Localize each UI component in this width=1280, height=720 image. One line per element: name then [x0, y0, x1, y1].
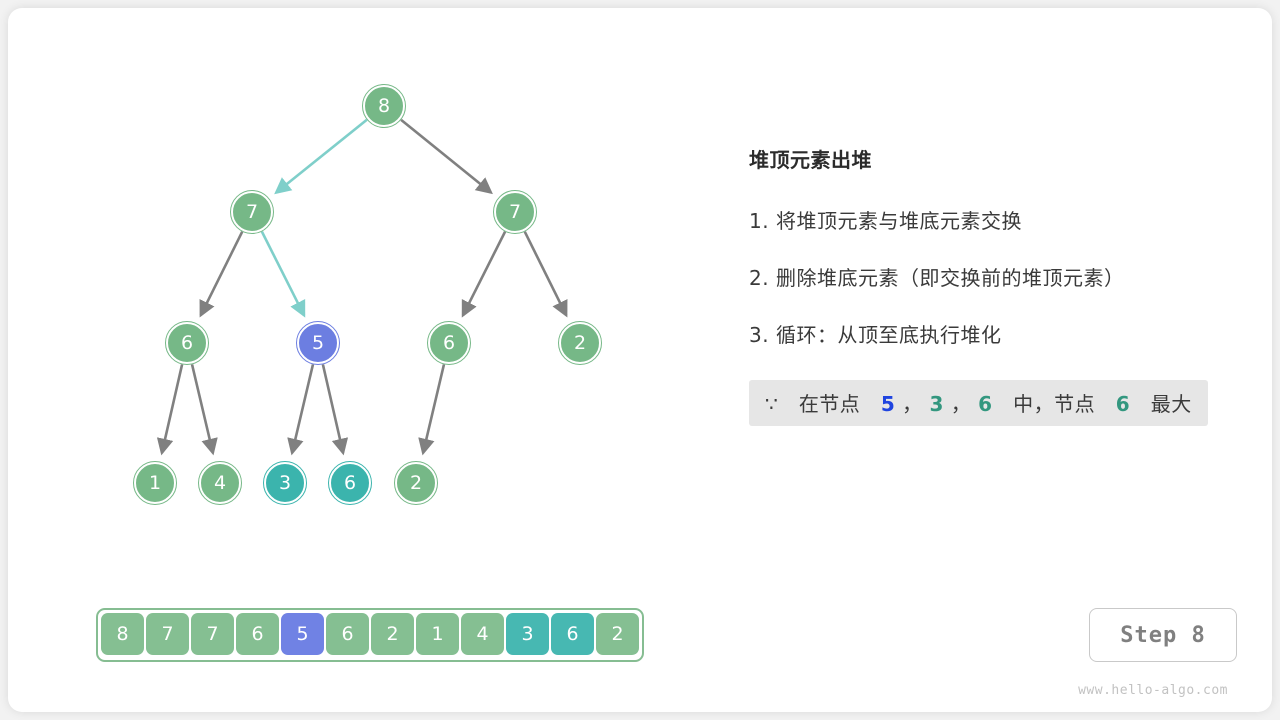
step-line-2: 2. 删除堆底元素（即交换前的堆顶元素）: [749, 262, 1229, 291]
conclusion-box: ∵ 在节点 5 ， 3 ， 6 中，节点 6 最大: [749, 380, 1208, 426]
tree-node-n2: 7: [494, 191, 536, 233]
tree-node-n0: 8: [363, 85, 405, 127]
array-cell-11: 2: [596, 613, 639, 655]
array-cell-label: 2: [611, 625, 623, 644]
conclusion-node-c: 6: [978, 392, 992, 416]
array-cell-8: 4: [461, 613, 504, 655]
array-cell-label: 6: [341, 625, 353, 644]
tree-node-label: 7: [509, 203, 521, 222]
tree-edge-n4-n9: [292, 364, 313, 452]
tree-edge-n2-n6: [525, 232, 566, 316]
tree-node-label: 4: [214, 474, 226, 493]
tree-node-label: 5: [312, 334, 324, 353]
array-cell-6: 2: [371, 613, 414, 655]
array-cell-3: 6: [236, 613, 279, 655]
array-cell-label: 7: [161, 625, 173, 644]
heap-array: 877656214362: [96, 608, 644, 662]
tree-node-n11: 2: [395, 462, 437, 504]
explanation-panel: 堆顶元素出堆 1. 将堆顶元素与堆底元素交换 2. 删除堆底元素（即交换前的堆顶…: [749, 144, 1229, 426]
conclusion-node-b: 3: [930, 392, 944, 416]
conclusion-middle: 中，节点: [1013, 392, 1095, 416]
array-cell-label: 2: [386, 625, 398, 644]
tree-node-label: 3: [279, 474, 291, 493]
page-root: 877656214362 877656214362 堆顶元素出堆 1. 将堆顶元…: [0, 0, 1280, 720]
tree-node-n7: 1: [134, 462, 176, 504]
array-cell-1: 7: [146, 613, 189, 655]
tree-edge-n0-n2: [401, 120, 491, 193]
array-cell-4: 5: [281, 613, 324, 655]
array-cell-5: 6: [326, 613, 369, 655]
tree-node-n8: 4: [199, 462, 241, 504]
tree-node-label: 7: [246, 203, 258, 222]
tree-node-n4: 5: [297, 322, 339, 364]
step-line-3: 3. 循环：从顶至底执行堆化: [749, 319, 1229, 348]
tree-edge-n3-n8: [192, 364, 213, 452]
tree-node-label: 2: [410, 474, 422, 493]
tree-node-label: 6: [344, 474, 356, 493]
tree-edge-n3-n7: [162, 364, 182, 452]
tree-node-n9: 3: [264, 462, 306, 504]
array-cell-label: 6: [251, 625, 263, 644]
content-card: 877656214362 877656214362 堆顶元素出堆 1. 将堆顶元…: [8, 8, 1272, 712]
array-cell-label: 3: [521, 625, 533, 644]
tree-node-label: 1: [149, 474, 161, 493]
tree-edge-n2-n5: [463, 232, 505, 316]
array-cell-label: 1: [431, 625, 443, 644]
conclusion-node-max: 6: [1116, 392, 1130, 416]
array-cell-label: 7: [206, 625, 218, 644]
tree-node-label: 6: [443, 334, 455, 353]
array-cell-label: 6: [566, 625, 578, 644]
because-symbol: ∵: [765, 392, 778, 416]
tree-node-n6: 2: [559, 322, 601, 364]
tree-node-label: 8: [378, 97, 390, 116]
array-cell-10: 6: [551, 613, 594, 655]
tree-node-label: 6: [181, 334, 193, 353]
tree-node-n5: 6: [428, 322, 470, 364]
conclusion-suffix: 最大: [1151, 392, 1192, 416]
tree-edge-layer: [162, 120, 566, 453]
page-title: 堆顶元素出堆: [749, 144, 1229, 173]
conclusion-node-a: 5: [881, 392, 895, 416]
step-badge: Step 8: [1089, 608, 1237, 662]
tree-node-label: 2: [574, 334, 586, 353]
tree-edge-n0-n1: [276, 120, 367, 193]
array-cell-label: 5: [296, 625, 308, 644]
array-cell-7: 1: [416, 613, 459, 655]
array-cell-label: 8: [116, 625, 128, 644]
tree-edge-n5-n11: [423, 364, 444, 452]
conclusion-prefix: 在节点: [799, 392, 861, 416]
conclusion-sep-2: ，: [951, 392, 972, 416]
array-cell-0: 8: [101, 613, 144, 655]
array-cell-2: 7: [191, 613, 234, 655]
tree-edge-n1-n4: [262, 232, 304, 316]
array-cell-9: 3: [506, 613, 549, 655]
watermark: www.hello-algo.com: [1078, 683, 1228, 698]
tree-node-n10: 6: [329, 462, 371, 504]
tree-node-n3: 6: [166, 322, 208, 364]
binary-heap-tree: 877656214362: [8, 8, 708, 568]
conclusion-sep-1: ，: [902, 392, 923, 416]
array-cell-label: 4: [476, 625, 488, 644]
step-line-1: 1. 将堆顶元素与堆底元素交换: [749, 205, 1229, 234]
tree-node-n1: 7: [231, 191, 273, 233]
tree-edge-n1-n3: [201, 232, 242, 316]
tree-edge-n4-n10: [323, 364, 343, 452]
